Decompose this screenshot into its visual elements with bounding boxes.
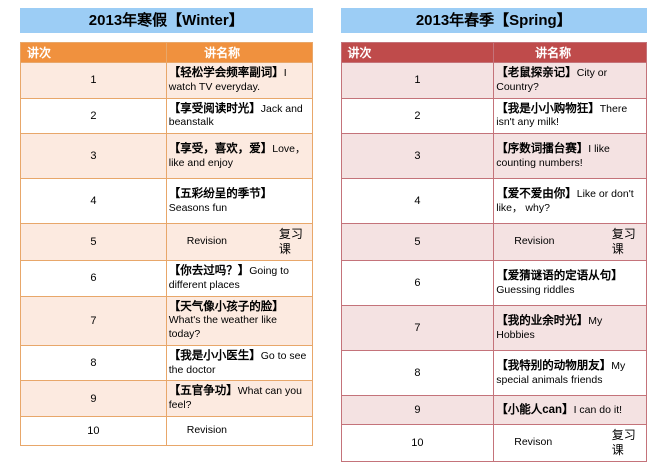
lesson-title-cn: 【爱猜谜语的定语从句】 — [496, 270, 623, 282]
table-row: 6 【爱猜谜语的定语从句】Guessing riddles — [341, 261, 647, 306]
lesson-title-cn: 【小能人can】 — [496, 404, 573, 416]
lesson-title-en: Revison — [514, 436, 611, 449]
row-number: 5 — [21, 224, 167, 261]
table-row: 5 Revision复习课 — [341, 224, 647, 261]
row-number: 9 — [21, 381, 167, 417]
row-lesson-name: Revison复习课 — [494, 425, 647, 462]
row-lesson-name: 【享受阅读时光】Jack and beanstalk — [166, 98, 312, 134]
lesson-title-cn: 【五官争功】 — [169, 385, 238, 397]
lesson-title-en: Revision — [514, 235, 611, 248]
row-lesson-name: 【爱不爱由你】Like or don't like， why? — [494, 179, 647, 224]
lesson-title-en: Guessing riddles — [496, 284, 574, 296]
table-header-row: 讲次 讲名称 — [341, 43, 647, 63]
lesson-title-cn: 【爱不爱由你】 — [496, 188, 577, 200]
lesson-title-cn: 【享受阅读时光】 — [169, 103, 261, 115]
lesson-title-cn: 【你去过吗？】 — [169, 265, 250, 277]
lesson-title-cn: 【序数词擂台赛】 — [496, 143, 588, 155]
row-lesson-name: 【我是小小购物狂】There isn't any milk! — [494, 98, 647, 134]
table-row: 8 【我是小小医生】Go to see the doctor — [21, 345, 313, 381]
row-lesson-name: 【老鼠探亲记】City or Country? — [494, 63, 647, 99]
row-number: 8 — [21, 345, 167, 381]
panel-spring: 2013年春季【Spring】 讲次 讲名称 1 【老鼠探亲记】City or … — [329, 0, 657, 404]
row-number: 1 — [21, 63, 167, 99]
table-body-winter: 1 【轻松学会频率副词】I watch TV everyday. 2 【享受阅读… — [21, 63, 313, 446]
lesson-title-cn: 【享受，喜欢，爱】 — [169, 143, 273, 155]
table-head-spring: 讲次 讲名称 — [341, 43, 647, 63]
schedule-table-spring: 讲次 讲名称 1 【老鼠探亲记】City or Country? 2 【我是小小… — [341, 42, 648, 462]
table-row: 4 【五彩纷呈的季节】Seasons fun — [21, 179, 313, 224]
row-number: 7 — [21, 296, 167, 345]
table-row: 10 Revision — [21, 416, 313, 445]
column-header-number: 讲次 — [341, 43, 494, 63]
column-header-name: 讲名称 — [166, 43, 312, 63]
lesson-title-cn: 【我是小小医生】 — [169, 350, 261, 362]
row-lesson-name: 【享受，喜欢，爱】Love， like and enjoy — [166, 134, 312, 179]
lesson-title-cn: 复习课 — [612, 227, 642, 257]
lesson-title-cn: 【我是小小购物狂】 — [496, 103, 600, 115]
table-row: 7 【天气像小孩子的脸】What's the weather like toda… — [21, 296, 313, 345]
row-number: 3 — [341, 134, 494, 179]
schedule-page: 2013年寒假【Winter】 讲次 讲名称 1 【轻松学会频率副词】I wat… — [0, 0, 657, 404]
table-row: 3 【享受，喜欢，爱】Love， like and enjoy — [21, 134, 313, 179]
lesson-title-cn: 【我特别的动物朋友】 — [496, 360, 611, 372]
table-header-row: 讲次 讲名称 — [21, 43, 313, 63]
table-head-winter: 讲次 讲名称 — [21, 43, 313, 63]
table-row: 2 【享受阅读时光】Jack and beanstalk — [21, 98, 313, 134]
column-header-name: 讲名称 — [494, 43, 647, 63]
lesson-title-cn: 【我的业余时光】 — [496, 315, 588, 327]
column-header-number: 讲次 — [21, 43, 167, 63]
row-lesson-name: 【我特别的动物朋友】My special animals friends — [494, 351, 647, 396]
lesson-title-cn: 【老鼠探亲记】 — [496, 67, 577, 79]
row-number: 8 — [341, 351, 494, 396]
row-number: 1 — [341, 63, 494, 99]
row-lesson-name: 【序数词擂台赛】I like counting numbers! — [494, 134, 647, 179]
lesson-title-cn: 【天气像小孩子的脸】 — [169, 301, 284, 313]
panel-spring-title: 2013年春季【Spring】 — [341, 8, 648, 33]
row-lesson-name: 【我是小小医生】Go to see the doctor — [166, 345, 312, 381]
table-row: 9 【小能人can】I can do it! — [341, 396, 647, 425]
row-lesson-name: 【小能人can】I can do it! — [494, 396, 647, 425]
row-number: 4 — [341, 179, 494, 224]
row-lesson-name: Revision — [166, 416, 312, 445]
row-lesson-name: 【你去过吗？】Going to different places — [166, 261, 312, 297]
row-lesson-name: 【轻松学会频率副词】I watch TV everyday. — [166, 63, 312, 99]
panel-winter-title: 2013年寒假【Winter】 — [20, 8, 313, 33]
row-number: 9 — [341, 396, 494, 425]
row-number: 2 — [341, 98, 494, 134]
table-row: 5 Revision复习课 — [21, 224, 313, 261]
row-number: 5 — [341, 224, 494, 261]
table-row: 8 【我特别的动物朋友】My special animals friends — [341, 351, 647, 396]
lesson-title-cn: 【五彩纷呈的季节】 — [169, 188, 273, 200]
lesson-title-en: Revision — [187, 424, 303, 437]
lesson-title-cn: 【轻松学会频率副词】 — [169, 67, 284, 79]
row-number: 4 — [21, 179, 167, 224]
table-row: 1 【老鼠探亲记】City or Country? — [341, 63, 647, 99]
panel-winter: 2013年寒假【Winter】 讲次 讲名称 1 【轻松学会频率副词】I wat… — [0, 0, 329, 404]
row-number: 6 — [341, 261, 494, 306]
lesson-title-en: What's the weather like today? — [169, 314, 277, 340]
table-row: 3 【序数词擂台赛】I like counting numbers! — [341, 134, 647, 179]
row-lesson-name: 【天气像小孩子的脸】What's the weather like today? — [166, 296, 312, 345]
row-number: 10 — [21, 416, 167, 445]
row-number: 10 — [341, 425, 494, 462]
row-lesson-name: Revision复习课 — [494, 224, 647, 261]
table-row: 10 Revison复习课 — [341, 425, 647, 462]
row-lesson-name: 【爱猜谜语的定语从句】Guessing riddles — [494, 261, 647, 306]
row-number: 6 — [21, 261, 167, 297]
schedule-table-winter: 讲次 讲名称 1 【轻松学会频率副词】I watch TV everyday. … — [20, 42, 313, 446]
row-number: 2 — [21, 98, 167, 134]
row-lesson-name: Revision复习课 — [166, 224, 312, 261]
row-number: 7 — [341, 306, 494, 351]
lesson-title-cn: 复习课 — [612, 428, 642, 458]
row-number: 3 — [21, 134, 167, 179]
table-body-spring: 1 【老鼠探亲记】City or Country? 2 【我是小小购物狂】The… — [341, 63, 647, 462]
lesson-title-en: Revision — [187, 235, 279, 248]
lesson-title-en: I can do it! — [574, 404, 622, 416]
table-row: 7 【我的业余时光】My Hobbies — [341, 306, 647, 351]
table-row: 4 【爱不爱由你】Like or don't like， why? — [341, 179, 647, 224]
table-row: 6 【你去过吗？】Going to different places — [21, 261, 313, 297]
lesson-title-en: Seasons fun — [169, 202, 227, 214]
table-row: 9 【五官争功】What can you feel? — [21, 381, 313, 417]
table-row: 1 【轻松学会频率副词】I watch TV everyday. — [21, 63, 313, 99]
row-lesson-name: 【五彩纷呈的季节】Seasons fun — [166, 179, 312, 224]
row-lesson-name: 【五官争功】What can you feel? — [166, 381, 312, 417]
row-lesson-name: 【我的业余时光】My Hobbies — [494, 306, 647, 351]
table-row: 2 【我是小小购物狂】There isn't any milk! — [341, 98, 647, 134]
lesson-title-cn: 复习课 — [279, 227, 308, 257]
